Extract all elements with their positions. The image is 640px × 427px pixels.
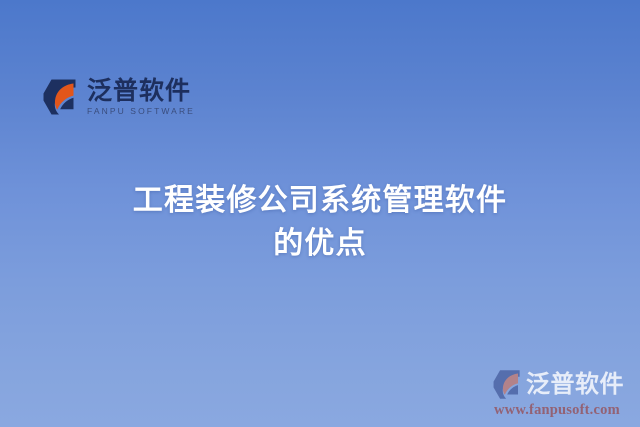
headline-line-2: 的优点 [0,223,640,266]
brand-logo: 泛普软件 FANPU SOFTWARE [42,78,195,116]
brand-name-en: FANPU SOFTWARE [87,107,195,116]
promo-banner: 泛普软件 FANPU SOFTWARE 工程装修公司系统管理软件 的优点 泛普软… [0,0,640,427]
fanpu-hexagon-leaf-logo-icon [492,369,522,400]
watermark-name-cn: 泛普软件 [526,373,624,397]
headline-line-1: 工程装修公司系统管理软件 [0,180,640,223]
brand-wordmark: 泛普软件 FANPU SOFTWARE [87,78,195,116]
brand-name-cn: 泛普软件 [87,78,195,104]
watermark: 泛普软件 www.fanpusoft.com [492,369,632,419]
headline: 工程装修公司系统管理软件 的优点 [0,180,640,265]
watermark-logo-row: 泛普软件 [492,369,624,400]
fanpu-hexagon-leaf-logo-icon [42,78,78,116]
watermark-url: www.fanpusoft.com [494,402,620,419]
